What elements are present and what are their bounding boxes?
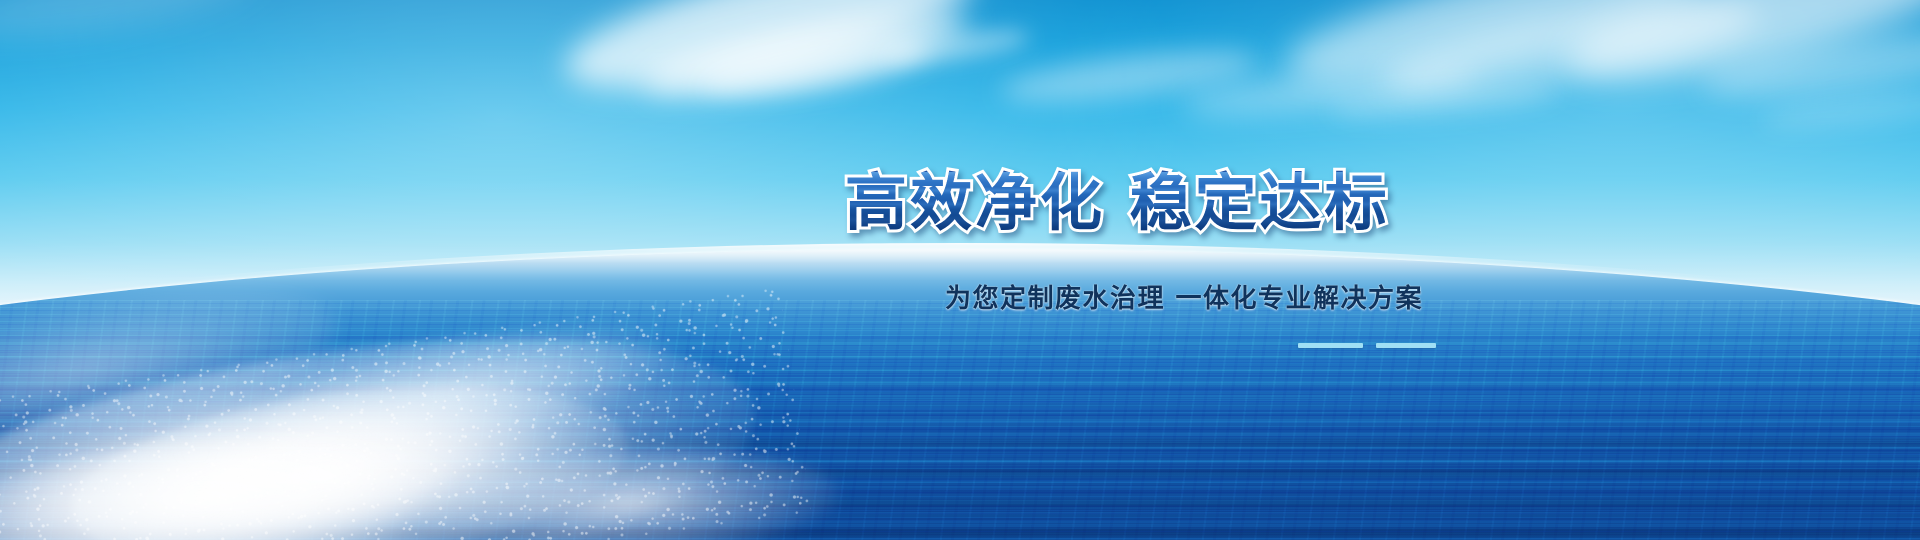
banner-headline-outline: 高效净化 稳定达标: [845, 172, 1390, 234]
dash-accent-group: [1298, 343, 1436, 348]
banner-subtitle: 为您定制废水治理 一体化专业解决方案: [945, 286, 1423, 312]
dash-accent-1: [1298, 343, 1363, 348]
banner-copy: 高效净化 稳定达标 高效净化 稳定达标 为您定制废水治理 一体化专业解决方案: [0, 0, 1920, 540]
hero-banner: 高效净化 稳定达标 高效净化 稳定达标 为您定制废水治理 一体化专业解决方案: [0, 0, 1920, 540]
dash-accent-2: [1376, 343, 1436, 348]
